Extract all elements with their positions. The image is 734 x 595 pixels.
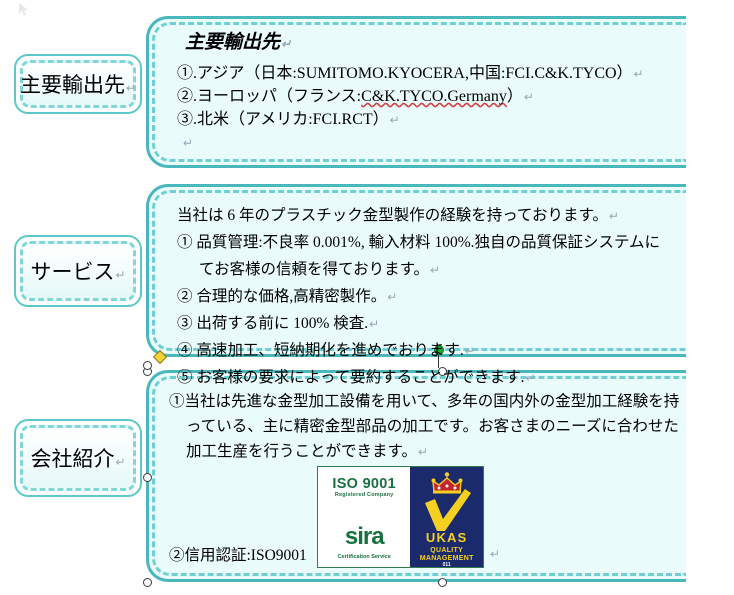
sira-logo-text: sira [318,523,410,551]
ukas-number-label: 011 [410,562,483,568]
iso-9001-label: ISO 9001 [318,476,410,492]
selection-handle-bottom-center[interactable] [438,578,447,587]
pilcrow-mark: ↵ [115,455,125,469]
certification-service-label: Certification Service [318,554,410,560]
section-label-text: サービス↵ [30,256,125,286]
ukas-navy-panel: UKAS QUALITY MANAGEMENT 011 [410,467,483,567]
pilcrow-mark: ↵ [183,136,193,150]
pilcrow-mark: ↵ [387,290,397,304]
service-line-4: ④ 高速加工、短納期化を進めでおります.↵ [177,338,676,360]
company-line-2: っている、主に精密金型部品の加工です。お客さまのニーズに合わせた [169,414,676,436]
pilcrow-mark: ↵ [430,263,440,277]
pilcrow-mark: ↵ [126,81,136,95]
content-box-exports[interactable]: 主要輸出先↵ ①.アジア（日本:SUMITOMO.KYOCERA,中国:FCI.… [146,16,686,168]
pilcrow-mark: ↵ [524,90,534,104]
registered-company-label: Registered Company [318,492,410,498]
section-label-text: 主要輸出先↵ [20,69,136,99]
pilcrow-mark: ↵ [465,344,475,358]
company-line-1: ①当社は先進な金型加工設備を用いて、多年の国内外の金型加工経験を持 [169,389,676,411]
exports-line-3: ③.北米（アメリカ:FCI.RCT）↵ [177,112,676,128]
pilcrow-mark: ↵ [281,37,291,51]
content-box-body: ①当社は先進な金型加工設備を用いて、多年の国内外の金型加工経験を持 っている、主… [149,373,686,472]
service-line-2: ② 合理的な価格,高精密製作。↵ [177,284,676,306]
exports-trailing-mark: ↵ [177,135,676,145]
cursor-ghost-artifact [16,2,38,18]
content-box-service[interactable]: 当社は 6 年のプラスチック金型製作の経験を持っております。↵ ① 品質管理:不… [146,184,686,357]
content-box-body: 主要輸出先↵ ①.アジア（日本:SUMITOMO.KYOCERA,中国:FCI.… [149,19,686,153]
selection-handle-bottom-left[interactable] [143,578,152,587]
content-box-body: 当社は 6 年のプラスチック金型製作の経験を持っております。↵ ① 品質管理:不… [149,187,686,400]
ukas-label: UKAS [410,530,483,545]
service-line-1-cont: てお客様の信頼を得ております。↵ [177,257,676,279]
company-line-3: 加工生産を行うことができます。↵ [169,439,676,461]
section-label-text: 会社紹介↵ [30,443,125,473]
spellcheck-underlined-text: C&K.TYCO.Germany [361,88,507,105]
section-label-service[interactable]: サービス↵ [14,235,142,307]
pilcrow-mark: ↵ [490,547,500,561]
content-box-company[interactable]: ①当社は先進な金型加工設備を用いて、多年の国内外の金型加工経験を持 っている、主… [146,370,686,582]
exports-line-2: ②.ヨーロッパ（フランス:C&K.TYCO.Germany）↵ [177,89,676,105]
pilcrow-mark: ↵ [609,209,619,223]
company-footer-pilcrow-wrap: ↵ [489,545,500,563]
pilcrow-mark: ↵ [418,445,428,459]
section-label-company[interactable]: 会社紹介↵ [14,419,142,497]
service-line-intro: 当社は 6 年のプラスチック金型製作の経験を持っております。↵ [177,203,676,225]
exports-heading: 主要輸出先↵ [185,33,676,52]
pilcrow-mark: ↵ [634,67,644,81]
company-footer-line: ②信用認証:ISO9001 [169,543,307,565]
ukas-quality-label: QUALITY [410,547,483,554]
exports-line-1: ①.アジア（日本:SUMITOMO.KYOCERA,中国:FCI.C&K.TYC… [177,66,676,82]
section-label-exports[interactable]: 主要輸出先↵ [14,54,142,114]
ukas-management-label: MANAGEMENT [410,555,483,562]
service-line-1: ① 品質管理:不良率 0.001%, 輸入材料 100%.独自の品質保証システム… [177,230,676,252]
selection-handle-middle-left[interactable] [143,473,152,482]
service-line-3: ③ 出荷する前に 100% 検査.↵ [177,311,676,333]
certificate-left-panel: ISO 9001 Registered Company sira Certifi… [318,467,410,567]
pilcrow-mark: ↵ [390,113,400,127]
iso-ukas-certificate-logo: ISO 9001 Registered Company sira Certifi… [317,466,484,568]
pilcrow-mark: ↵ [369,317,379,331]
pilcrow-mark: ↵ [115,268,125,282]
